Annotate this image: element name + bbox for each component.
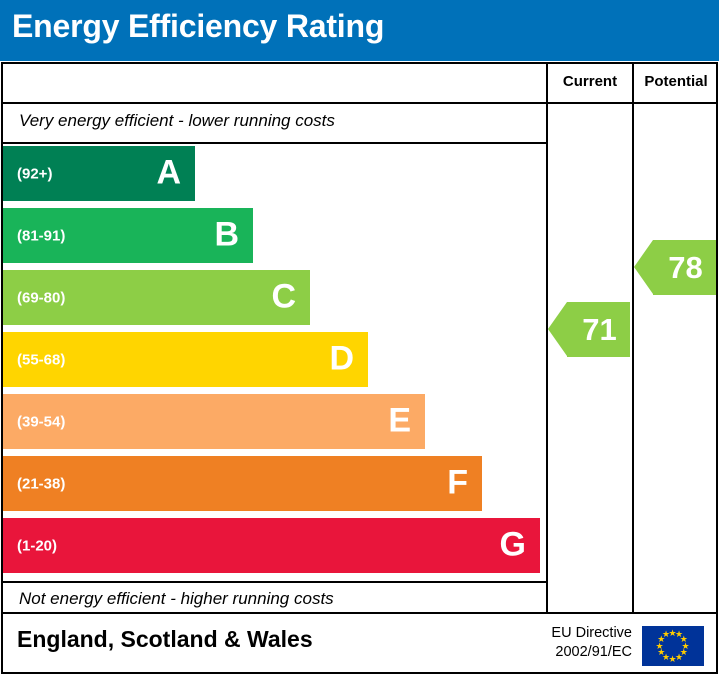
band-letter-g: G [500,525,526,564]
rating-arrow-current [548,302,567,356]
rating-current: 71 [567,302,630,357]
band-letter-f: F [447,463,468,502]
band-letter-b: B [214,215,239,254]
eu-directive-line2: 2002/91/EC [551,643,632,662]
band-range-c: (69-80) [17,289,65,306]
chart-frame: Current Potential Very energy efficient … [1,62,718,614]
band-range-b: (81-91) [17,227,65,244]
column-divider-potential [632,64,634,612]
note-bottom-divider [3,581,546,583]
header-row-divider [3,102,716,104]
eu-star: ★ [662,630,670,639]
band-bar-b: (81-91)B [3,208,253,263]
rating-arrow-potential [634,240,653,294]
band-range-e: (39-54) [17,413,65,430]
band-bar-c: (69-80)C [3,270,310,325]
column-header-current: Current [548,73,632,90]
band-bar-e: (39-54)E [3,394,425,449]
region-label: England, Scotland & Wales [17,626,313,653]
band-bars: (92+)A(81-91)B(69-80)C(55-68)D(39-54)E(2… [3,144,546,581]
band-letter-e: E [388,401,411,440]
rating-value-potential: 78 [666,250,702,286]
note-bottom: Not energy efficient - higher running co… [19,589,334,609]
band-range-g: (1-20) [17,537,57,554]
rating-potential: 78 [653,240,716,295]
chart-footer: England, Scotland & Wales EU Directive 2… [1,614,718,674]
band-bar-d: (55-68)D [3,332,368,387]
band-bar-g: (1-20)G [3,518,540,573]
rating-value-current: 71 [580,312,616,348]
band-letter-d: D [329,339,354,378]
band-range-a: (92+) [17,165,52,182]
band-bar-f: (21-38)F [3,456,482,511]
band-letter-c: C [271,277,296,316]
band-range-f: (21-38) [17,475,65,492]
eu-flag-icon: ★★★★★★★★★★★★ [642,626,704,666]
band-letter-a: A [156,153,181,192]
note-top: Very energy efficient - lower running co… [19,111,335,131]
band-bar-a: (92+)A [3,146,195,201]
page-title: Energy Efficiency Rating [12,8,384,45]
column-header-potential: Potential [634,73,718,90]
eu-directive-line1: EU Directive [551,624,632,643]
epc-certificate: Energy Efficiency Rating Current Potenti… [0,0,719,675]
eu-directive-text: EU Directive 2002/91/EC [551,624,632,662]
chart-header: Energy Efficiency Rating [0,0,719,61]
band-range-d: (55-68) [17,351,65,368]
